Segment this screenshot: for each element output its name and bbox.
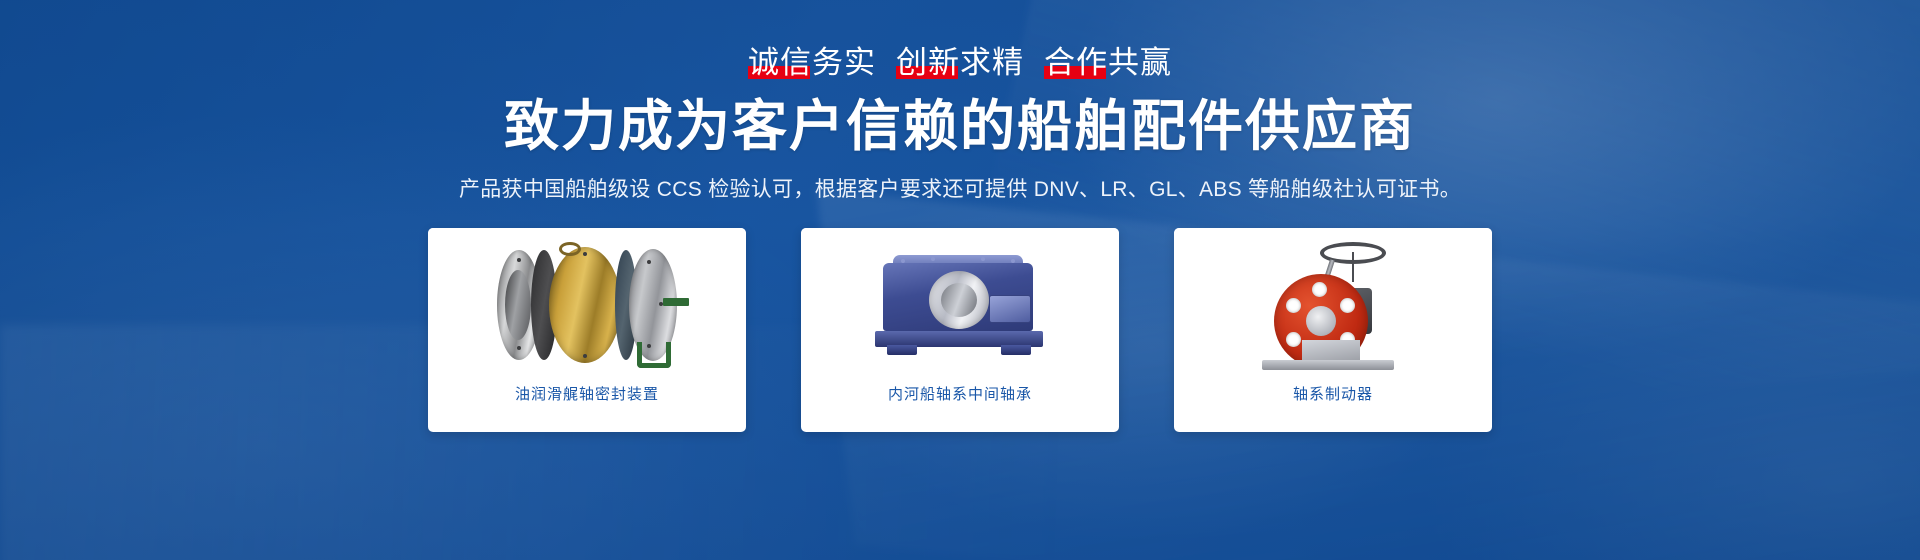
product-caption-2: 内河船轴系中间轴承 (888, 387, 1032, 402)
product-image-3 (1174, 228, 1492, 383)
product-caption-1: 油润滑艉轴密封装置 (515, 387, 659, 402)
product-caption-3: 轴系制动器 (1293, 387, 1373, 402)
tagline-phrase-1-label: 诚信务实 (748, 45, 876, 80)
tagline-phrase-1: 诚信务实 (748, 47, 876, 78)
tagline-phrase-2-label: 创新求精 (896, 45, 1024, 80)
tagline-phrase-2: 创新求精 (896, 47, 1024, 78)
tagline-phrase-3: 合作共赢 (1044, 47, 1172, 78)
tagline: 诚信务实 创新求精 合作共赢 (748, 47, 1172, 78)
stern-tube-seal-illustration (487, 246, 687, 364)
banner-content: 诚信务实 创新求精 合作共赢 致力成为客户信赖的船舶配件供应商 产品获中国船舶级… (0, 0, 1920, 560)
page-title: 致力成为客户信赖的船舶配件供应商 (504, 98, 1416, 156)
hero-banner: 诚信务实 创新求精 合作共赢 致力成为客户信赖的船舶配件供应商 产品获中国船舶级… (0, 0, 1920, 560)
product-card-list: 油润滑艉轴密封装置 (428, 228, 1492, 432)
shaft-brake-illustration (1248, 240, 1418, 370)
product-image-2 (801, 228, 1119, 383)
product-card-2[interactable]: 内河船轴系中间轴承 (801, 228, 1119, 432)
product-image-1 (428, 228, 746, 383)
product-card-1[interactable]: 油润滑艉轴密封装置 (428, 228, 746, 432)
tagline-phrase-3-label: 合作共赢 (1044, 45, 1172, 80)
intermediate-shaft-bearing-illustration (871, 245, 1049, 365)
product-card-3[interactable]: 轴系制动器 (1174, 228, 1492, 432)
subtitle: 产品获中国船舶级设 CCS 检验认可，根据客户要求还可提供 DNV、LR、GL、… (459, 173, 1461, 203)
